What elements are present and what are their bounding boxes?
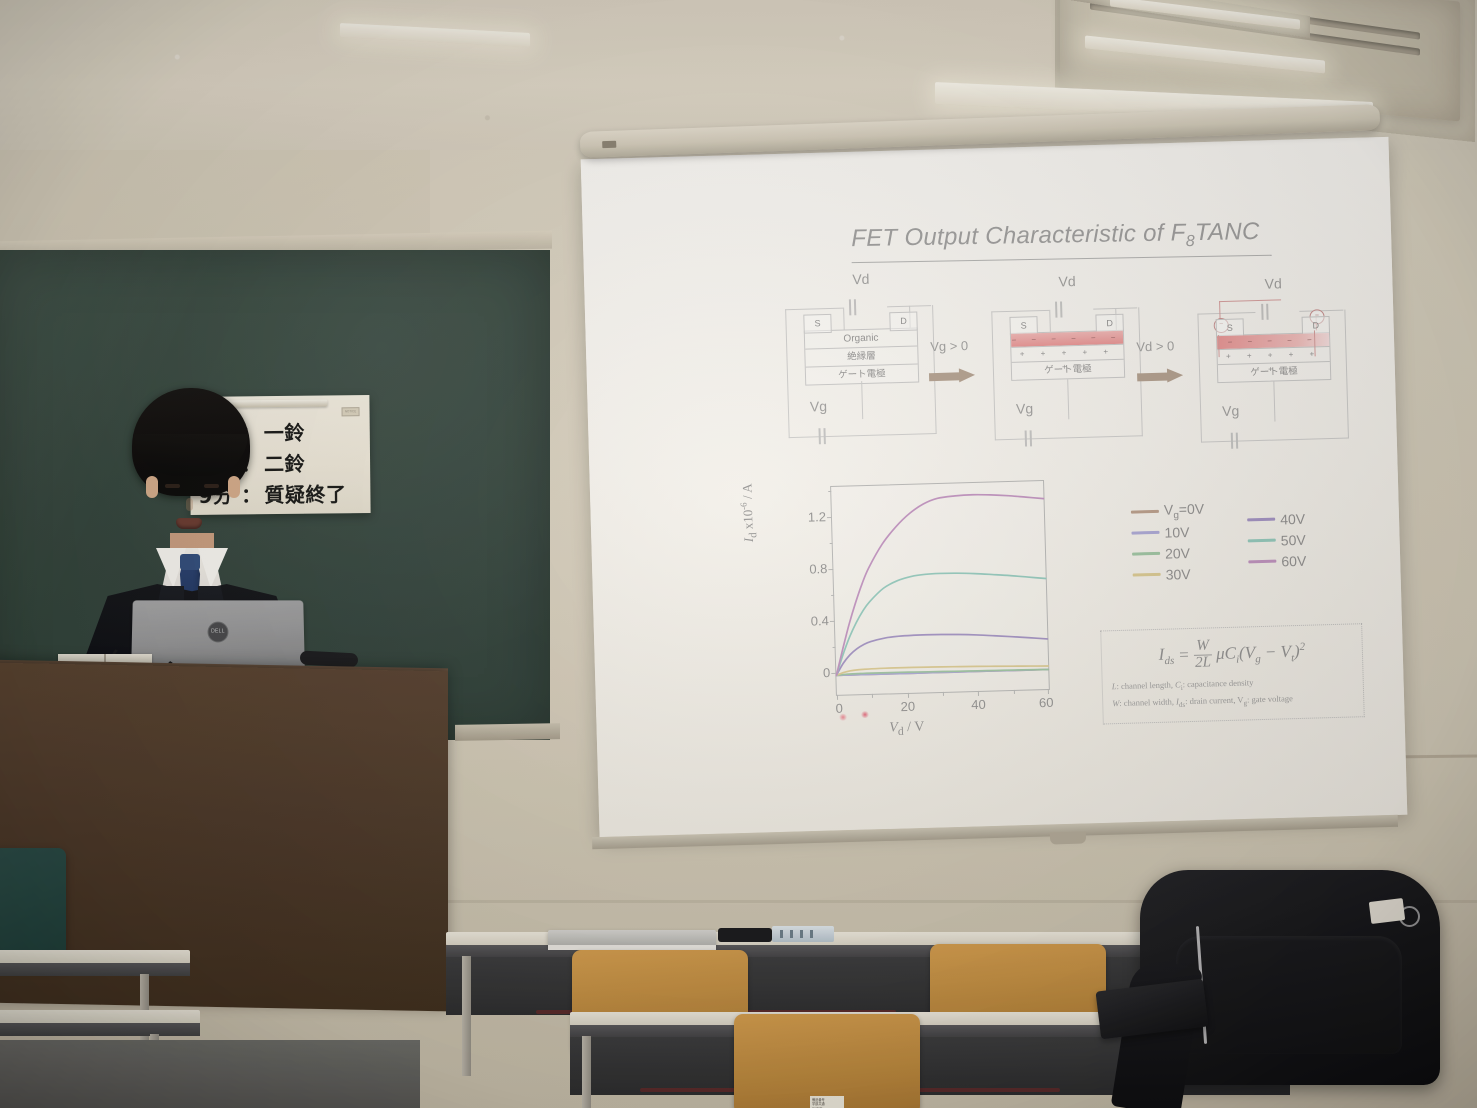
projector-screen <box>581 137 1408 837</box>
desk-edge <box>0 1023 200 1036</box>
housing-label-icon <box>602 141 616 148</box>
screen-pull-handle[interactable] <box>1050 831 1086 844</box>
desk-top <box>0 950 190 964</box>
usb-dongle <box>718 928 772 942</box>
desk-leg <box>582 1036 591 1108</box>
chair-asset-tag: 備品番号 学部共通 R5年度 第3講義室 <box>810 1096 844 1108</box>
necktie-knot <box>180 554 200 570</box>
mouth <box>176 518 202 529</box>
dell-logo-icon: DELL <box>207 621 228 642</box>
desk-edge <box>0 963 190 976</box>
desk-top <box>0 1010 200 1024</box>
usb-hub <box>772 926 834 942</box>
eye-right <box>204 484 219 488</box>
backpack <box>1140 870 1440 1085</box>
backpack-luggage-tag <box>1369 898 1405 924</box>
eye-left <box>165 484 180 488</box>
backpack-pocket <box>1176 936 1402 1054</box>
student-laptop <box>548 930 716 946</box>
nose <box>186 498 193 511</box>
projection-surface <box>581 137 1408 837</box>
classroom-presentation-photo: NOTICE 2分 ： 一鈴 5分 ： 二鈴 9分 ： 質疑終了 <box>0 0 1477 1108</box>
desk-leg <box>462 956 471 1076</box>
chalk-tray <box>455 723 560 741</box>
chair[interactable]: 備品番号 学部共通 R5年度 第3講義室 <box>734 1014 920 1108</box>
floor <box>0 1040 420 1108</box>
chair-backrest <box>734 1014 920 1108</box>
ear-right <box>228 476 240 498</box>
ear-left <box>146 476 158 498</box>
